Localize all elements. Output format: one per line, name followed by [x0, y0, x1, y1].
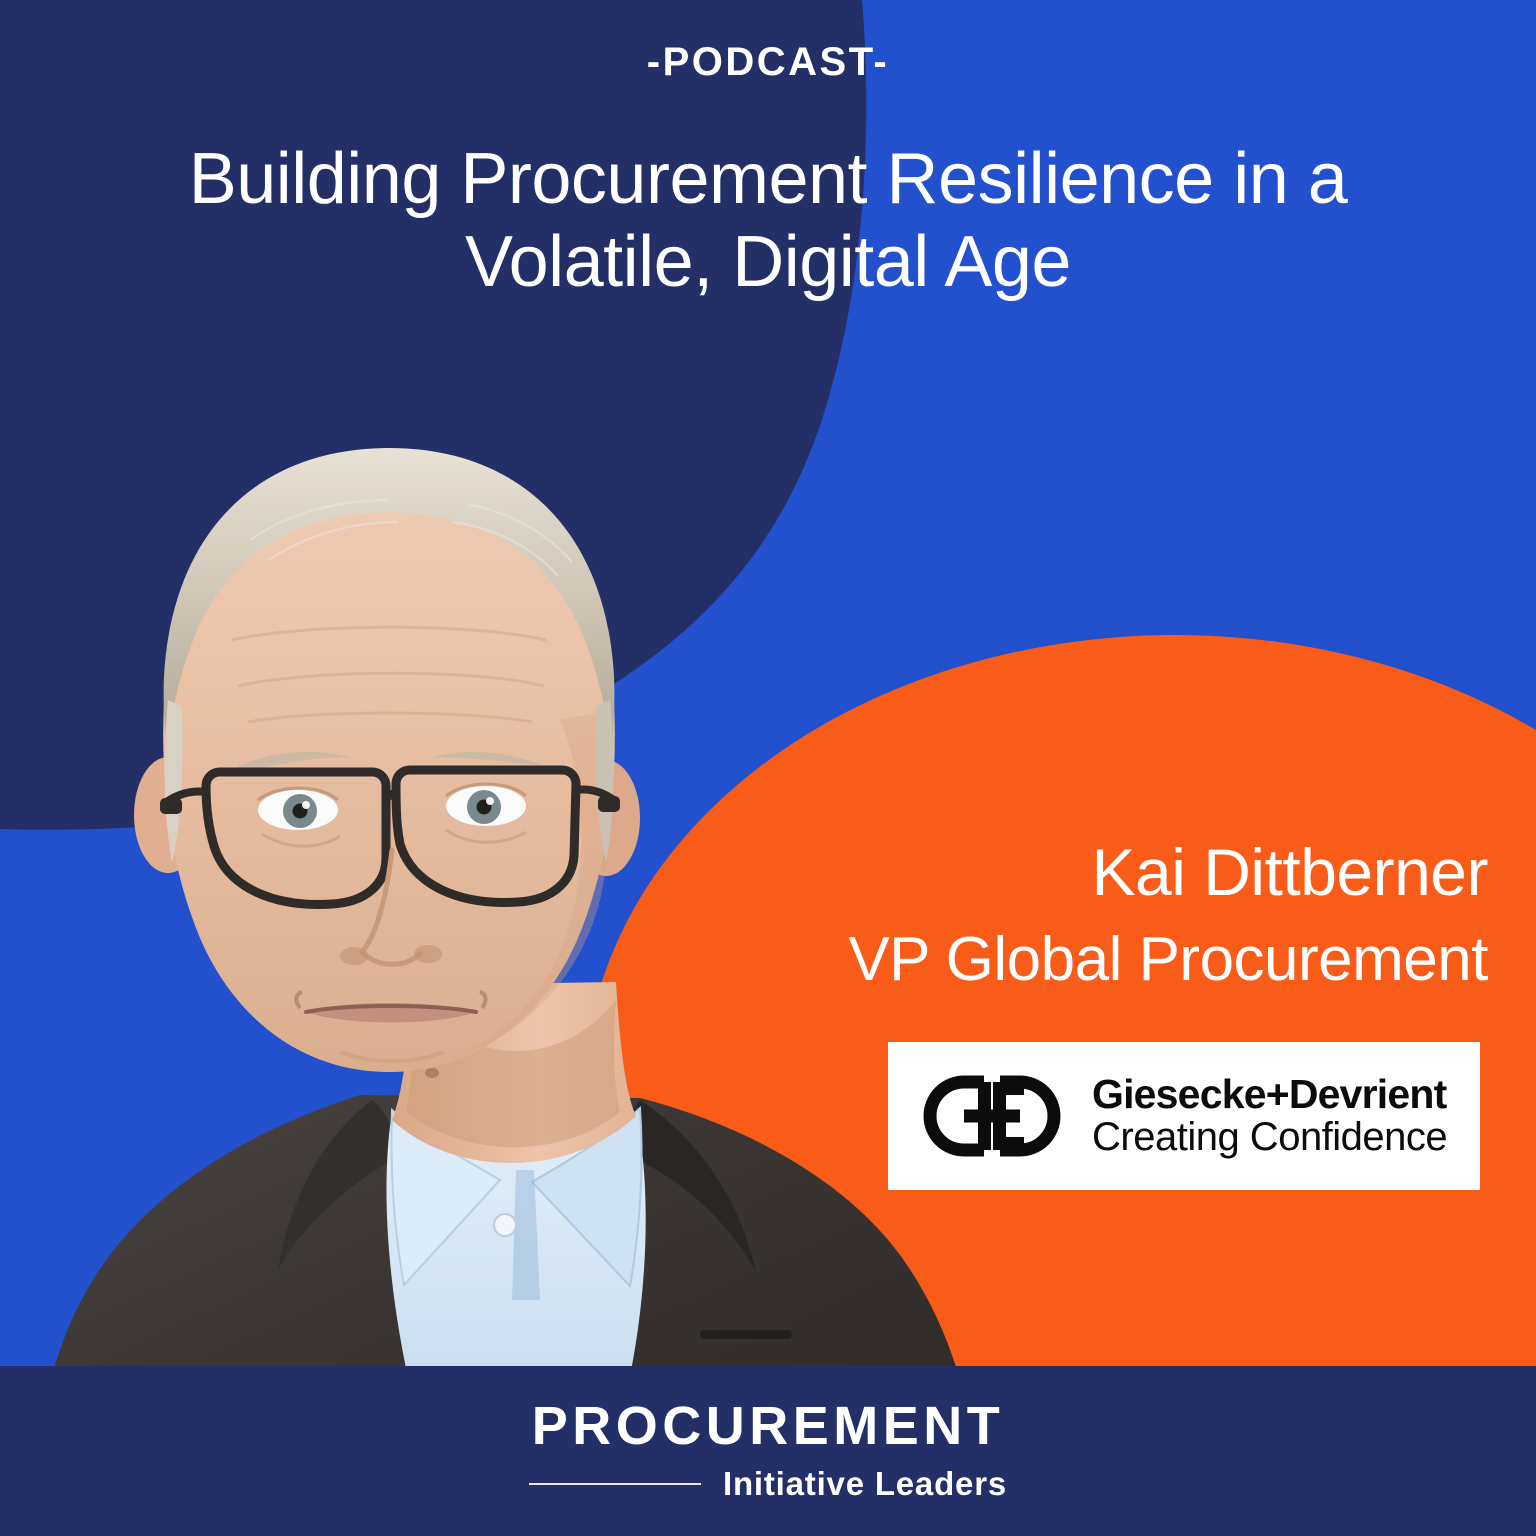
portrait-mole [425, 1068, 439, 1078]
company-name: Giesecke+Devrient [1092, 1073, 1447, 1116]
episode-title-line-2: Volatile, Digital Age [90, 221, 1446, 304]
brand-name-secondary: Initiative Leaders [723, 1465, 1007, 1503]
company-text-block: Giesecke+Devrient Creating Confidence [1092, 1073, 1447, 1160]
gd-monogram-icon [922, 1068, 1062, 1164]
episode-title: Building Procurement Resilience in a Vol… [90, 138, 1446, 304]
brand-divider-rule [529, 1483, 701, 1485]
company-logo-plate: Giesecke+Devrient Creating Confidence [888, 1042, 1480, 1190]
speaker-role: VP Global Procurement [728, 927, 1488, 992]
speaker-name: Kai Dittberner [728, 838, 1488, 907]
podcast-cover-artwork: -PODCAST- Building Procurement Resilienc… [0, 0, 1536, 1536]
brand-name-primary: PROCUREMENT [532, 1399, 1005, 1453]
brand-sub-row: Initiative Leaders [529, 1465, 1007, 1503]
podcast-kicker-label: -PODCAST- [0, 40, 1536, 85]
episode-title-line-1: Building Procurement Resilience in a [90, 138, 1446, 221]
speaker-info-block: Kai Dittberner VP Global Procurement [728, 838, 1488, 992]
company-tagline: Creating Confidence [1092, 1116, 1447, 1159]
brand-lockup: PROCUREMENT Initiative Leaders [0, 1366, 1536, 1536]
shirt-button-icon [494, 1214, 516, 1236]
